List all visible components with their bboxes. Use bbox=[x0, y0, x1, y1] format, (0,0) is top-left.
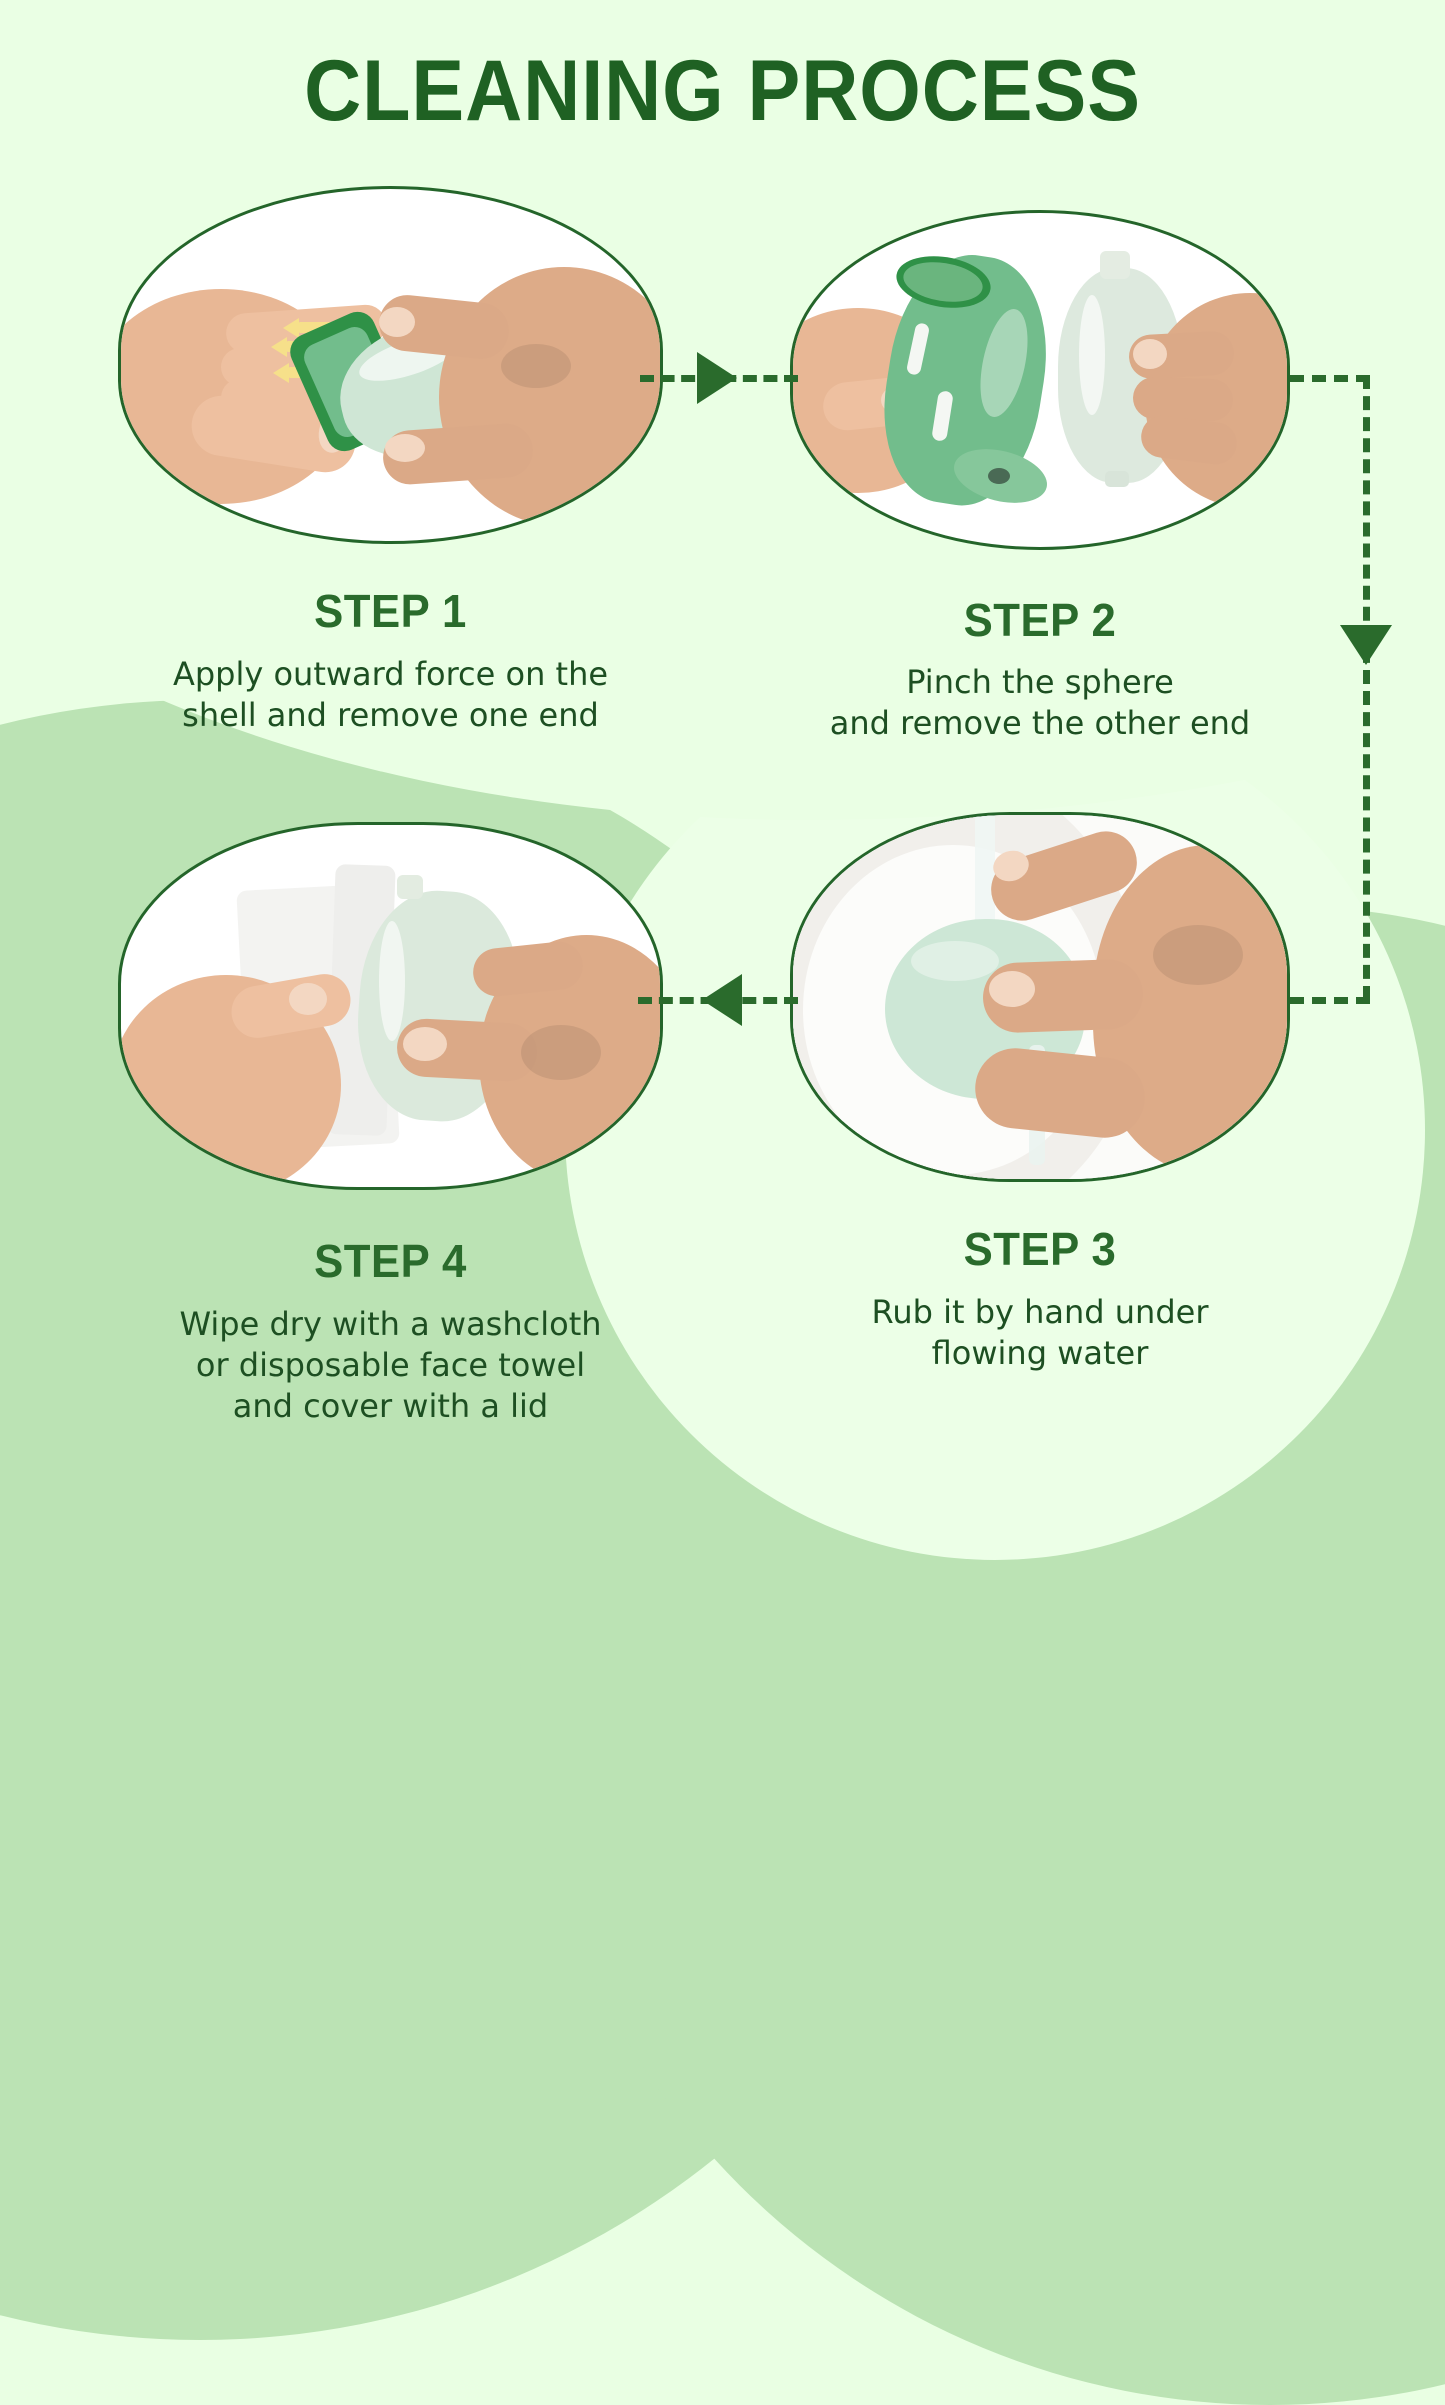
right-thumb-nail bbox=[385, 434, 425, 462]
water-stream bbox=[975, 812, 995, 927]
step-3-description: Rub it by hand under flowing water bbox=[790, 1292, 1290, 1374]
step-1-block: STEP 1 Apply outward force on the shell … bbox=[118, 186, 663, 746]
step-4-label: STEP 4 bbox=[132, 1234, 650, 1288]
connector-step1-to-step2-arrowhead bbox=[697, 352, 737, 404]
step-1-photo-frame bbox=[118, 186, 663, 544]
step-2-photo-frame bbox=[790, 210, 1290, 550]
step-3-illustration bbox=[793, 815, 1287, 1179]
step-4-photo-frame bbox=[118, 822, 663, 1190]
step-1-label: STEP 1 bbox=[132, 584, 650, 638]
force-arrow-3-head bbox=[273, 363, 289, 383]
connector-step2-to-step3-top-segment bbox=[1290, 375, 1370, 382]
device-bottle-foot bbox=[1105, 471, 1129, 487]
force-arrow-1-head bbox=[283, 318, 299, 338]
shell-base-hole bbox=[988, 468, 1010, 484]
connector-step2-to-step3-vertical-segment bbox=[1363, 375, 1370, 1000]
step-2-description: Pinch the sphere and remove the other en… bbox=[790, 662, 1290, 744]
step-3-label: STEP 3 bbox=[803, 1222, 1278, 1276]
connector-step2-to-step3-arrowhead bbox=[1340, 625, 1392, 665]
connector-step2-to-step3-bottom-segment bbox=[1290, 997, 1370, 1004]
step-1-description: Apply outward force on the shell and rem… bbox=[118, 654, 663, 736]
infographic-canvas: CLEANING PROCESS bbox=[0, 0, 1445, 1445]
step-4-illustration bbox=[121, 825, 660, 1187]
right-thumb-nail-4 bbox=[403, 1027, 447, 1061]
step-4-description: Wipe dry with a washcloth or disposable … bbox=[118, 1304, 663, 1427]
force-arrow-2-head bbox=[271, 337, 287, 357]
right-index-nail-2 bbox=[1133, 339, 1167, 369]
device-bottle-gloss bbox=[1079, 295, 1105, 415]
connector-step3-to-step4-arrowhead bbox=[702, 974, 742, 1026]
left-thumb-nail-4 bbox=[289, 983, 327, 1015]
right-index-nail bbox=[379, 307, 415, 337]
step-1-illustration bbox=[121, 189, 660, 541]
right-hand-shading-4 bbox=[521, 1025, 601, 1080]
step-2-block: STEP 2 Pinch the sphere and remove the o… bbox=[790, 210, 1290, 750]
right-middle-finger-2 bbox=[1132, 376, 1233, 421]
hand3-thumb-nail bbox=[989, 971, 1035, 1007]
right-hand-knuckle-shading bbox=[501, 344, 571, 388]
step-3-block: STEP 3 Rub it by hand under flowing wate… bbox=[790, 812, 1290, 1372]
device-gloss-3 bbox=[911, 941, 999, 981]
hand3-knuckle-shading bbox=[1153, 925, 1243, 985]
step-2-label: STEP 2 bbox=[803, 593, 1278, 647]
device-bottle-nozzle bbox=[1100, 251, 1130, 279]
device-lid-nozzle-4 bbox=[397, 875, 423, 899]
step-2-illustration bbox=[793, 213, 1287, 547]
step-3-photo-frame bbox=[790, 812, 1290, 1182]
step-4-block: STEP 4 Wipe dry with a washcloth or disp… bbox=[118, 822, 663, 1422]
device-gloss-4 bbox=[379, 921, 405, 1041]
page-title: CLEANING PROCESS bbox=[58, 48, 1387, 134]
